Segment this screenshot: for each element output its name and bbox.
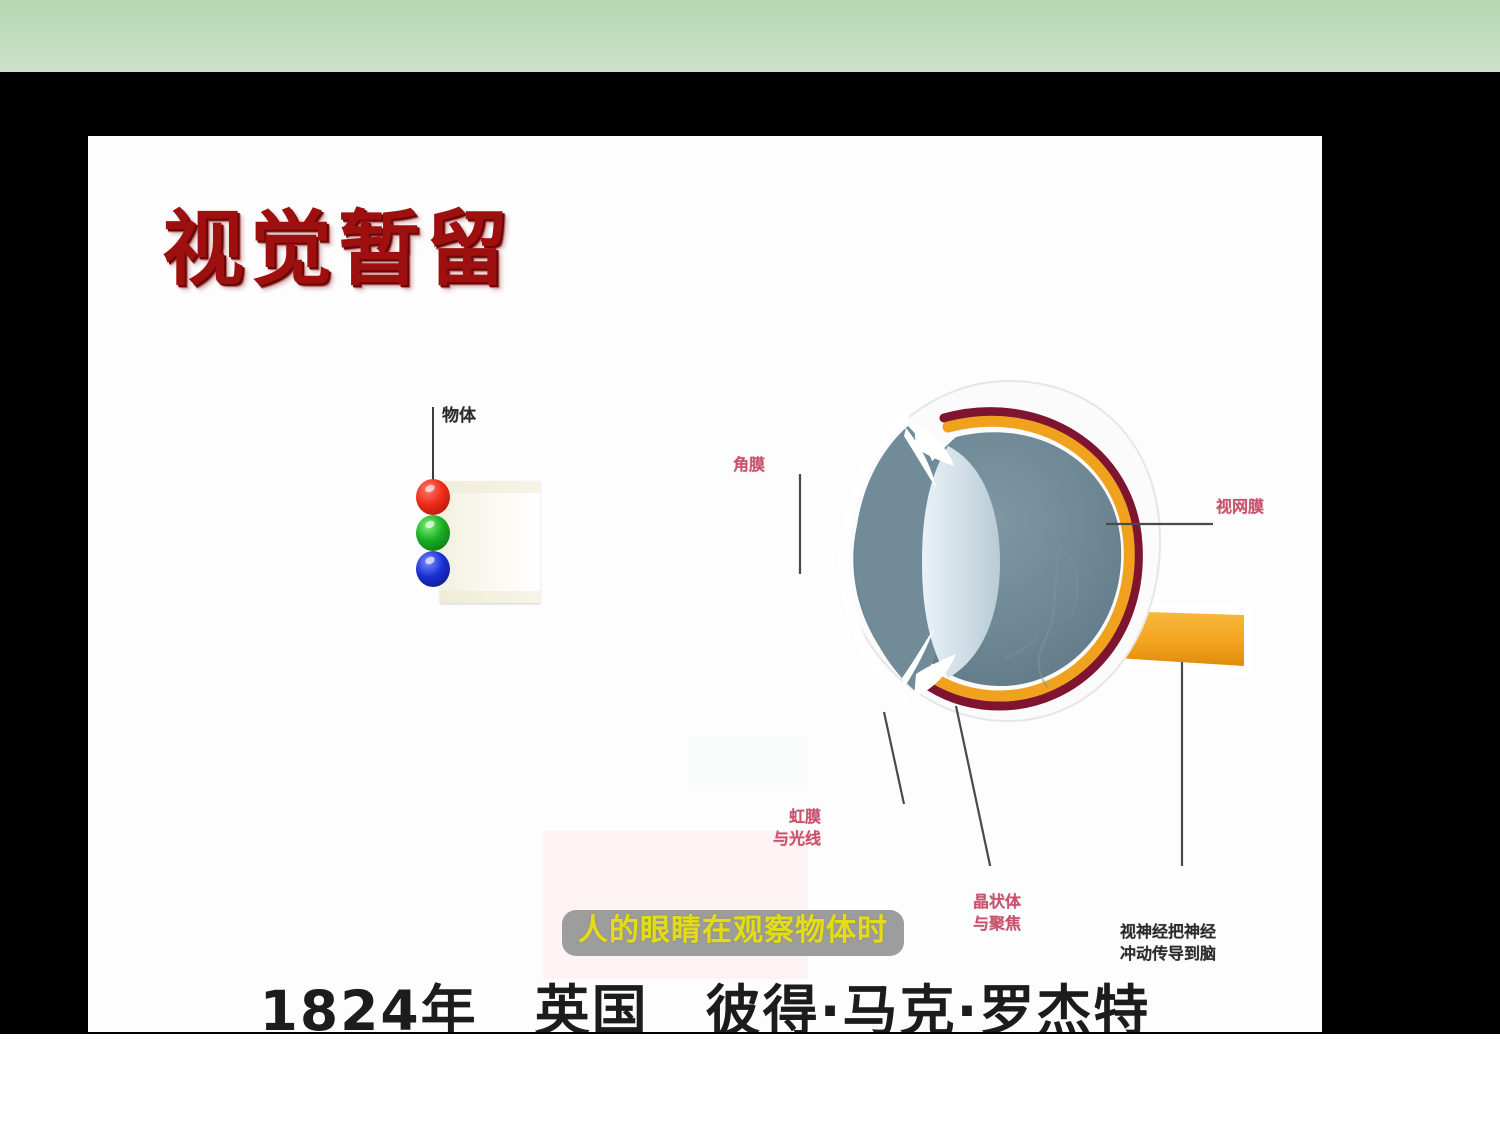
object-label: 物体 xyxy=(442,401,476,426)
label-iris: 虹膜 与光线 xyxy=(773,806,821,849)
label-iris-line1: 虹膜 xyxy=(773,806,821,828)
label-iris-line2: 与光线 xyxy=(773,828,821,850)
card-strip-top xyxy=(440,481,540,493)
label-optic-nerve: 视神经把神经 冲动传导到脑 xyxy=(1120,921,1216,964)
label-lens: 晶状体 与聚焦 xyxy=(973,891,1021,934)
label-lens-line1: 晶状体 xyxy=(973,891,1021,913)
eye-cross-section-svg xyxy=(708,306,1268,866)
label-optic-nerve-line1: 视神经把神经 xyxy=(1120,921,1216,943)
label-lens-line2: 与聚焦 xyxy=(973,913,1021,935)
object-card-backdrop xyxy=(440,481,540,603)
screenshot-root: 视觉暂留 物体 xyxy=(0,0,1500,1125)
red-sphere xyxy=(416,479,450,515)
slide-canvas: 视觉暂留 物体 xyxy=(88,136,1322,1032)
green-sphere xyxy=(416,515,450,551)
label-retina: 视网膜 xyxy=(1216,496,1264,518)
blue-sphere xyxy=(416,551,450,587)
label-cornea: 角膜 xyxy=(733,454,765,476)
bottom-caption: 1824年 英国 彼得·马克·罗杰特 xyxy=(88,966,1322,1032)
top-green-band xyxy=(0,0,1500,72)
card-strip-bottom xyxy=(440,591,540,603)
subtitle-caption: 人的眼睛在观察物体时 xyxy=(562,910,904,956)
object-leader-line xyxy=(432,407,434,487)
eye-anatomy-diagram: 角膜 视网膜 虹膜 与光线 晶状体 与聚焦 视神经把神经 冲动传导到脑 xyxy=(708,306,1268,866)
object-illustration: 物体 xyxy=(406,401,636,601)
label-optic-nerve-line2: 冲动传导到脑 xyxy=(1120,943,1216,965)
page-title: 视觉暂留 xyxy=(162,208,514,290)
